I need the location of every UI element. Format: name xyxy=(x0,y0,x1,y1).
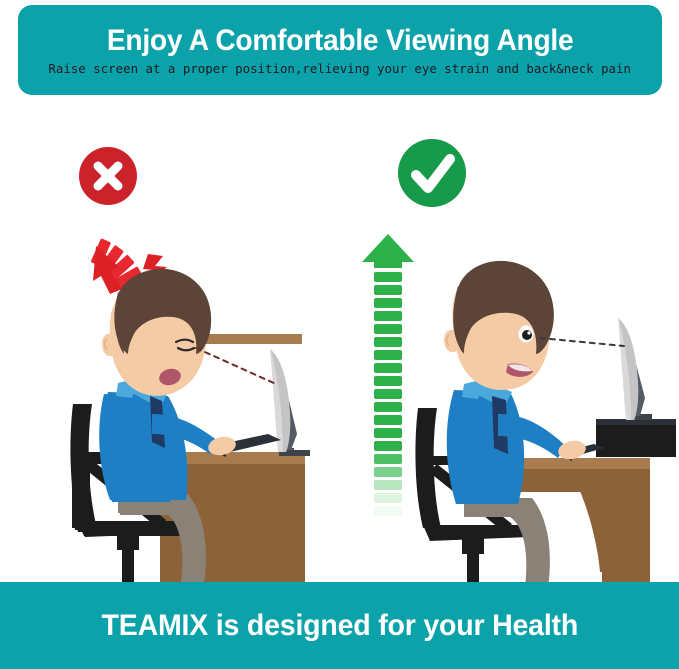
monitor-riser xyxy=(596,419,676,457)
sight-line xyxy=(196,348,276,384)
page-subtitle: Raise screen at a proper position,reliev… xyxy=(49,61,632,77)
sight-line xyxy=(540,338,624,346)
cross-circle-icon xyxy=(79,147,137,205)
page-title: Enjoy A Comfortable Viewing Angle xyxy=(107,24,573,61)
green-up-arrow-icon xyxy=(362,234,414,516)
footer-title: TEAMIX is designed for your Health xyxy=(101,609,578,643)
illustration-correct-posture: Correct posture - screen raised on stand xyxy=(340,96,679,582)
illustration-area: Incorrect posture - screen too low xyxy=(0,96,679,582)
head xyxy=(444,261,554,390)
illustration-incorrect-posture: Incorrect posture - screen too low xyxy=(0,96,339,582)
check-circle-icon xyxy=(398,139,466,207)
monitor xyxy=(618,318,652,420)
product-feature-image: Enjoy A Comfortable Viewing Angle Raise … xyxy=(0,0,679,669)
header-banner: Enjoy A Comfortable Viewing Angle Raise … xyxy=(18,5,662,95)
footer-banner: TEAMIX is designed for your Health xyxy=(0,582,679,669)
